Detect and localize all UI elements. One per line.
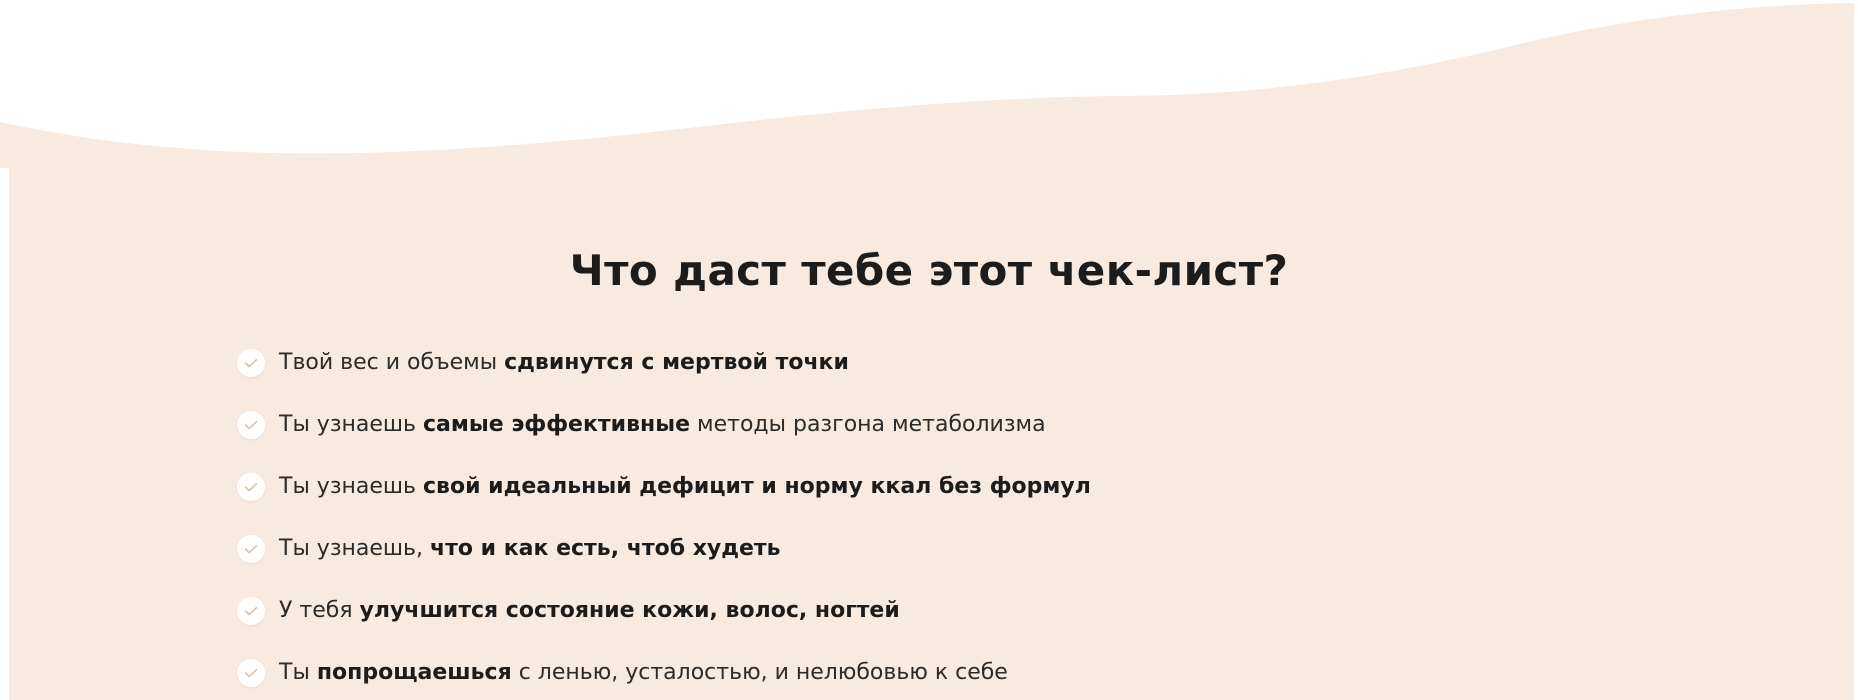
list-item-text: Ты узнаешь самые эффективные методы разг… <box>279 410 1046 440</box>
check-circle-icon <box>237 659 265 687</box>
benefit-list: Твой вес и объемы сдвинутся с мертвой то… <box>237 332 1637 700</box>
list-item: Ты узнаешь, что и как есть, чтоб худеть <box>237 518 1637 580</box>
list-item-tail: методы разгона метаболизма <box>690 412 1046 437</box>
list-item-text: У тебя улучшится состояние кожи, волос, … <box>279 596 900 626</box>
check-circle-icon <box>237 473 265 501</box>
list-item-strong: сдвинутся с мертвой точки <box>504 350 849 375</box>
check-circle-icon <box>237 411 265 439</box>
list-item-strong: что и как есть, чтоб худеть <box>430 536 781 561</box>
list-item-lead: Ты узнаешь <box>279 412 423 437</box>
list-item-tail: с ленью, усталостью, и нелюбовью к себе <box>512 660 1008 685</box>
list-item-text: Ты узнаешь свой идеальный дефицит и норм… <box>279 472 1091 502</box>
list-item-lead: Ты узнаешь <box>279 474 423 499</box>
check-circle-icon <box>237 597 265 625</box>
list-item-lead: У тебя <box>279 598 360 623</box>
list-item-strong: улучшится состояние кожи, волос, ногтей <box>360 598 900 623</box>
list-item: У тебя улучшится состояние кожи, волос, … <box>237 580 1637 642</box>
list-item-text: Ты узнаешь, что и как есть, чтоб худеть <box>279 534 781 564</box>
list-item-lead: Ты <box>279 660 317 685</box>
list-item: Ты узнаешь самые эффективные методы разг… <box>237 394 1637 456</box>
list-item-lead: Твой вес и объемы <box>279 350 504 375</box>
list-item: Твой вес и объемы сдвинутся с мертвой то… <box>237 332 1637 394</box>
check-circle-icon <box>237 535 265 563</box>
section-content: Что даст тебе этот чек-лист? Твой вес и … <box>0 0 1858 700</box>
landing-section: Что даст тебе этот чек-лист? Твой вес и … <box>0 0 1858 700</box>
check-circle-icon <box>237 349 265 377</box>
list-item-strong: попрощаешься <box>317 660 512 685</box>
list-item: Ты попрощаешься с ленью, усталостью, и н… <box>237 642 1637 700</box>
list-item: Ты узнаешь свой идеальный дефицит и норм… <box>237 456 1637 518</box>
list-item-lead: Ты узнаешь, <box>279 536 430 561</box>
list-item-text: Ты попрощаешься с ленью, усталостью, и н… <box>279 658 1008 688</box>
list-item-strong: самые эффективные <box>423 412 690 437</box>
page-title: Что даст тебе этот чек-лист? <box>0 246 1858 296</box>
list-item-strong: свой идеальный дефицит и норму ккал без … <box>423 474 1091 499</box>
list-item-text: Твой вес и объемы сдвинутся с мертвой то… <box>279 348 849 378</box>
